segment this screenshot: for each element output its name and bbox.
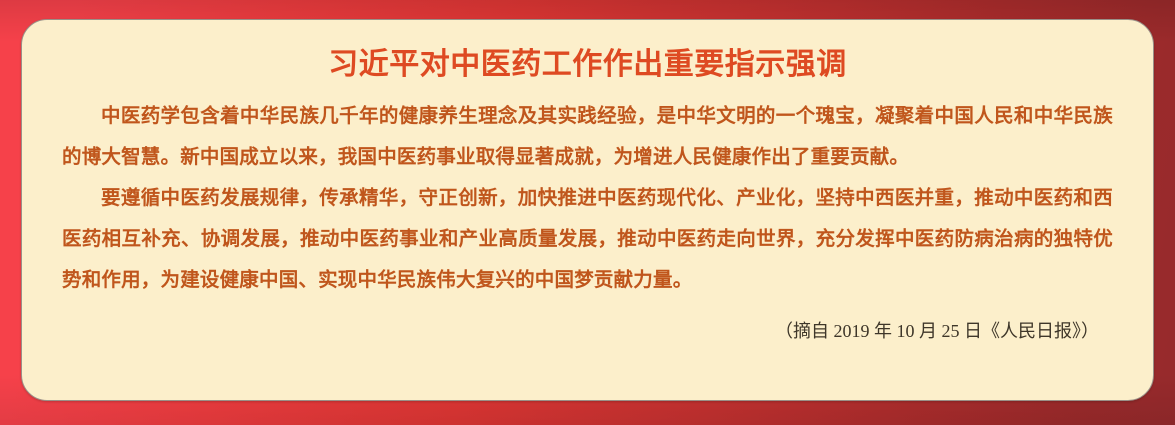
attribution-row: （摘自 2019 年 10 月 25 日《人民日报》）	[60, 319, 1115, 343]
content-panel: 习近平对中医药工作作出重要指示强调 中医药学包含着中华民族几千年的健康养生理念及…	[21, 19, 1154, 401]
content-panel-inner: 习近平对中医药工作作出重要指示强调 中医药学包含着中华民族几千年的健康养生理念及…	[22, 20, 1153, 400]
body-paragraph-1: 中医药学包含着中华民族几千年的健康养生理念及其实践经验，是中华文明的一个瑰宝，凝…	[60, 96, 1115, 178]
source-attribution: （摘自 2019 年 10 月 25 日《人民日报》）	[775, 321, 1099, 341]
poster-banner: 习近平对中医药工作作出重要指示强调 中医药学包含着中华民族几千年的健康养生理念及…	[0, 0, 1175, 425]
page-title: 习近平对中医药工作作出重要指示强调	[60, 46, 1115, 84]
body-paragraph-2: 要遵循中医药发展规律，传承精华，守正创新，加快推进中医药现代化、产业化，坚持中西…	[60, 178, 1115, 301]
